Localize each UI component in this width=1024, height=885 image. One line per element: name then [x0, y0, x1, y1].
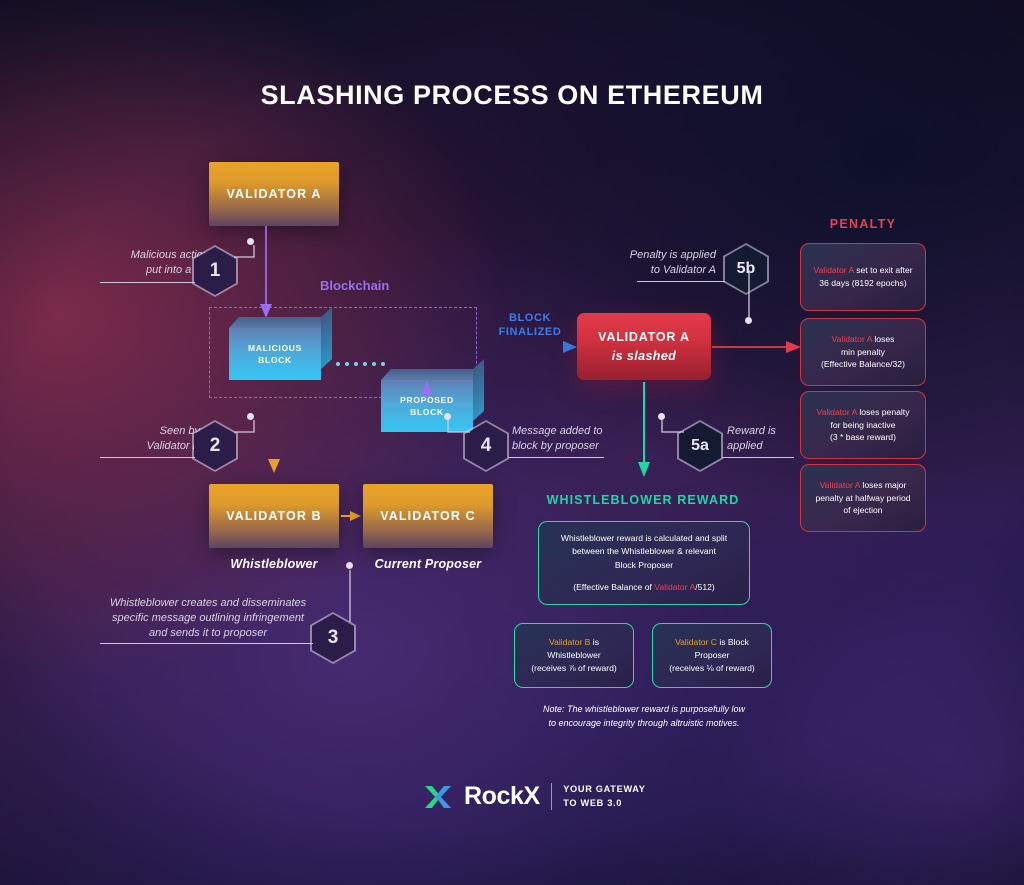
step-1-endpoint-dot: [247, 238, 254, 245]
node-validator-b[interactable]: VALIDATOR B: [209, 484, 339, 548]
step-3-text: Whistleblower creates and disseminates s…: [108, 596, 308, 641]
whistleblower-split-validator-c[interactable]: Validator C is Block Proposer (receives …: [652, 623, 772, 688]
arrow-slashed-to-whistleblower-reward: [636, 382, 654, 480]
brand-tagline: YOUR GATEWAY TO WEB 3.0: [563, 783, 645, 810]
logo-divider: [551, 783, 552, 810]
rockx-x-icon: [423, 783, 453, 811]
step-2-text: Seen by Validator B: [108, 424, 200, 454]
slashed-state: is slashed: [612, 347, 676, 366]
step-3-baseline: [100, 643, 313, 644]
footer-logo[interactable]: RockX YOUR GATEWAY TO WEB 3.0: [423, 782, 646, 811]
penalty-heading: PENALTY: [788, 217, 938, 231]
page-title: SLASHING PROCESS ON ETHEREUM: [0, 80, 1024, 111]
brand-name: RockX: [464, 782, 540, 811]
step-3-endpoint-dot: [346, 562, 353, 569]
infographic-canvas: SLASHING PROCESS ON ETHEREUM VALIDATOR A…: [0, 0, 1024, 885]
whistleblower-heading: WHISTLEBLOWER REWARD: [540, 493, 746, 507]
block-chain-dots: [336, 362, 385, 366]
node-validator-a-label: VALIDATOR A: [227, 187, 322, 201]
arrow-malicious-block-to-validator-b: [266, 385, 286, 477]
step-2-endpoint-dot: [247, 413, 254, 420]
node-validator-a-slashed[interactable]: VALIDATOR A is slashed: [577, 313, 711, 380]
whistleblower-note: Note: The whistleblower reward is purpos…: [500, 703, 788, 730]
node-validator-c[interactable]: VALIDATOR C: [363, 484, 493, 548]
whistleblower-split-validator-b[interactable]: Validator B is Whistleblower (receives ⅞…: [514, 623, 634, 688]
slashed-name: VALIDATOR A: [598, 328, 690, 347]
step-5a-endpoint-dot: [658, 413, 665, 420]
step-5a-text: Reward is applied: [727, 424, 807, 454]
step-5b-baseline: [637, 281, 725, 282]
validator-b-role: Whistleblower: [209, 557, 339, 571]
arrow-slashed-to-penalty: [712, 340, 804, 354]
step-5b-text: Penalty is applied to Validator A: [620, 248, 716, 278]
step-5a-baseline: [722, 457, 794, 458]
step-3-connector: [344, 566, 362, 628]
penalty-item-1[interactable]: Validator A set to exit after 36 days (8…: [800, 243, 926, 311]
node-validator-a[interactable]: VALIDATOR A: [209, 162, 339, 226]
step-4-text: Message added to block by proposer: [512, 424, 622, 454]
step-1-baseline: [100, 282, 195, 283]
penalty-item-3[interactable]: Validator A loses penalty for being inac…: [800, 391, 926, 459]
step-5b-endpoint-dot: [745, 317, 752, 324]
penalty-item-4[interactable]: Validator A loses major penalty at halfw…: [800, 464, 926, 532]
penalty-item-2[interactable]: Validator A loses min penalty (Effective…: [800, 318, 926, 386]
whistleblower-main-box[interactable]: Whistleblower reward is calculated and s…: [538, 521, 750, 605]
node-validator-b-label: VALIDATOR B: [226, 509, 321, 523]
node-validator-c-label: VALIDATOR C: [380, 509, 475, 523]
blockchain-label: Blockchain: [320, 278, 389, 293]
step-2-baseline: [100, 457, 195, 458]
arrow-block-finalized: [470, 340, 580, 354]
validator-c-role: Current Proposer: [363, 557, 493, 571]
step-4-baseline: [508, 457, 604, 458]
malicious-block[interactable]: MALICIOUS BLOCK: [229, 328, 321, 380]
arrow-validator-b-to-validator-c: [341, 509, 363, 523]
block-finalized-label: BLOCK FINALIZED: [492, 311, 568, 340]
